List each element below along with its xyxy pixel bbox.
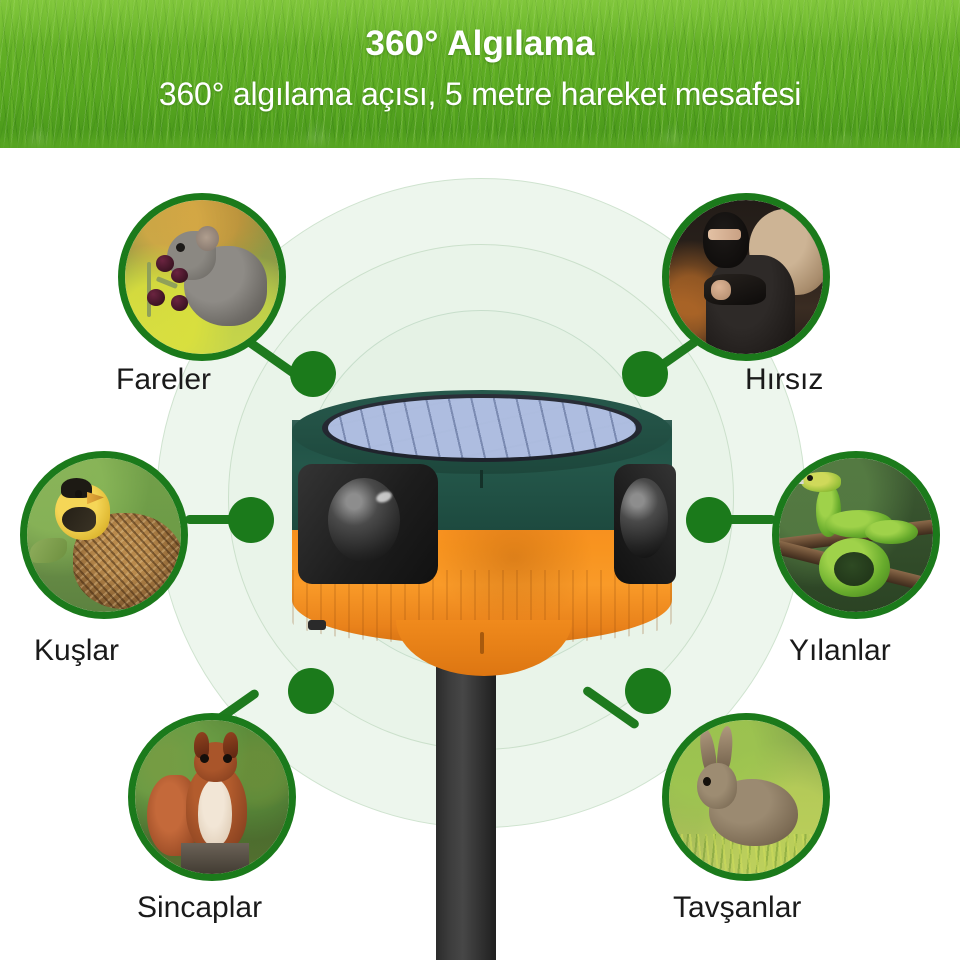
photo-circle-yilanlar[interactable] <box>772 451 940 619</box>
page-title: 360° Algılama <box>0 24 960 64</box>
connector-dot-kuslar <box>228 497 274 543</box>
squirrel-belly-shape <box>198 779 232 847</box>
label-kuslar: Kuşlar <box>34 634 119 668</box>
photo-circle-kuslar[interactable] <box>20 451 188 619</box>
mouse-ear-shape <box>196 226 219 251</box>
photo-circle-fareler[interactable] <box>118 193 286 361</box>
snake-coil-shape <box>834 552 874 586</box>
infographic-page: 360° Algılama 360° algılama açısı, 5 met… <box>0 0 960 960</box>
thief-hand-shape <box>711 280 731 300</box>
pir-dome-lens-left <box>328 478 400 562</box>
squirrel-eye-shape <box>223 754 232 763</box>
berry-shape <box>171 295 188 310</box>
label-yilanlar: Yılanlar <box>789 634 891 668</box>
photo-circle-hirsiz[interactable] <box>662 193 830 361</box>
device-base-collar <box>396 620 572 676</box>
bird-wing-shape <box>62 507 96 532</box>
berry-shape <box>147 289 165 306</box>
device-ground-stake <box>436 650 496 960</box>
rabbit-eye-shape <box>703 777 711 786</box>
leaf-shape <box>30 538 67 563</box>
device-side-tab <box>308 620 326 630</box>
squirrel-photo-icon <box>135 720 289 874</box>
label-tavsanlar: Tavşanlar <box>673 891 801 925</box>
rabbit-photo-icon <box>669 720 823 874</box>
label-fareler: Fareler <box>116 363 211 397</box>
thief-eye-slot <box>708 229 742 240</box>
snake-coil-shape <box>865 520 917 545</box>
snake-photo-icon <box>779 458 933 612</box>
page-subtitle: 360° algılama açısı, 5 metre hareket mes… <box>0 76 960 113</box>
thief-photo-icon <box>669 200 823 354</box>
rabbit-head-shape <box>697 763 737 809</box>
fence-post-shape <box>181 843 249 874</box>
device-base-slot <box>480 632 484 654</box>
pir-dome-lens-right <box>620 478 668 558</box>
photo-circle-sincaplar[interactable] <box>128 713 296 881</box>
solar-repeller-device <box>284 384 680 684</box>
bird-photo-icon <box>27 458 181 612</box>
thief-balaclava-shape <box>703 212 749 267</box>
solar-panel <box>322 394 642 462</box>
connector-dot-yilanlar <box>686 497 732 543</box>
thief-body-shape <box>706 255 795 354</box>
label-hirsiz: Hırsız <box>745 363 823 397</box>
device-seam <box>480 470 483 488</box>
grass-bottom-edge <box>0 136 960 148</box>
snake-eye-shape <box>807 475 813 481</box>
solar-panel-cells <box>328 398 636 458</box>
mouse-photo-icon <box>125 200 279 354</box>
header-banner <box>0 0 960 148</box>
snake-head-shape <box>801 472 841 492</box>
squirrel-eye-shape <box>200 754 209 763</box>
photo-circle-tavsanlar[interactable] <box>662 713 830 881</box>
label-sincaplar: Sincaplar <box>137 891 262 925</box>
